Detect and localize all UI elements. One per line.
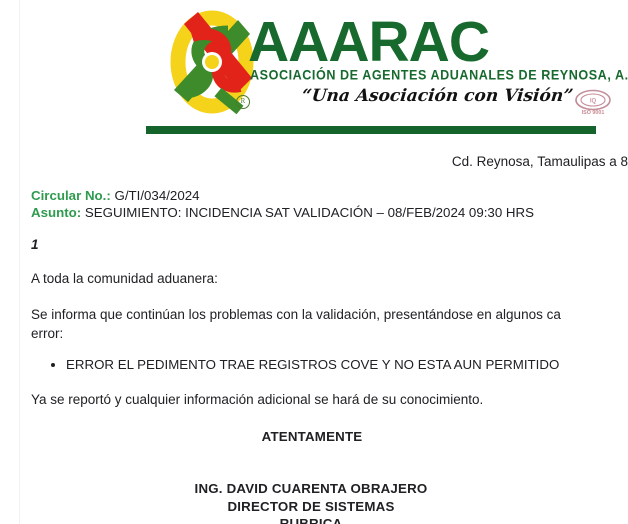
signer-name: ING. DAVID CUARENTA OBRAJERO [0,480,622,498]
error-list: ERROR EL PEDIMENTO TRAE REGISTROS COVE Y… [0,357,628,372]
page-number: 1 [31,237,628,252]
subject-row: Asunto: SEGUIMIENTO: INCIDENCIA SAT VALI… [31,204,628,221]
salutation: ATENTAMENTE [0,429,628,444]
svg-text:ISO 9001: ISO 9001 [582,110,605,116]
letterhead-green-rule [146,126,596,134]
organization-subtitle: ASOCIACIÓN DE AGENTES ADUANALES DE REYNO… [250,68,628,83]
closing-paragraph: Ya se reportó y cualquier información ad… [31,392,628,407]
body-paragraph-line-1: Se informa que continúan los problemas c… [31,305,628,324]
subject-value: SEGUIMIENTO: INCIDENCIA SAT VALIDACIÓN –… [81,205,534,220]
svg-text:IQ: IQ [590,99,597,105]
dateline: Cd. Reynosa, Tamaulipas a 8 [0,154,628,169]
circular-number-label: Circular No.: [31,188,111,203]
letterhead: R AAARAC ASOCIACIÓN DE AGENTES ADUANALES… [0,0,628,140]
document-body: Cd. Reynosa, Tamaulipas a 8 Circular No.… [0,140,628,524]
document-page: R AAARAC ASOCIACIÓN DE AGENTES ADUANALES… [0,0,628,524]
organization-wordmark: AAARAC [248,14,489,70]
signature-block: ING. DAVID CUARENTA OBRAJERO DIRECTOR DE… [0,480,628,524]
body-paragraph: Se informa que continúan los problemas c… [31,305,628,343]
signer-rubric: RUBRICA [0,515,622,524]
circular-number-value: G/TI/034/2024 [111,188,200,203]
list-item: ERROR EL PEDIMENTO TRAE REGISTROS COVE Y… [66,357,628,372]
circular-number-row: Circular No.: G/TI/034/2024 [31,187,628,204]
signer-title: DIRECTOR DE SISTEMAS [0,498,622,516]
document-meta: Circular No.: G/TI/034/2024 Asunto: SEGU… [31,187,628,221]
organization-tagline: “Una Asociación con Visión” [301,86,574,106]
greeting-line: A toda la comunidad aduanera: [31,271,628,286]
iso-9001-badge-icon: IQ ISO 9001 [571,88,615,118]
body-paragraph-line-2: error: [31,326,63,341]
subject-label: Asunto: [31,205,81,220]
registered-trademark-icon: R [236,95,250,109]
